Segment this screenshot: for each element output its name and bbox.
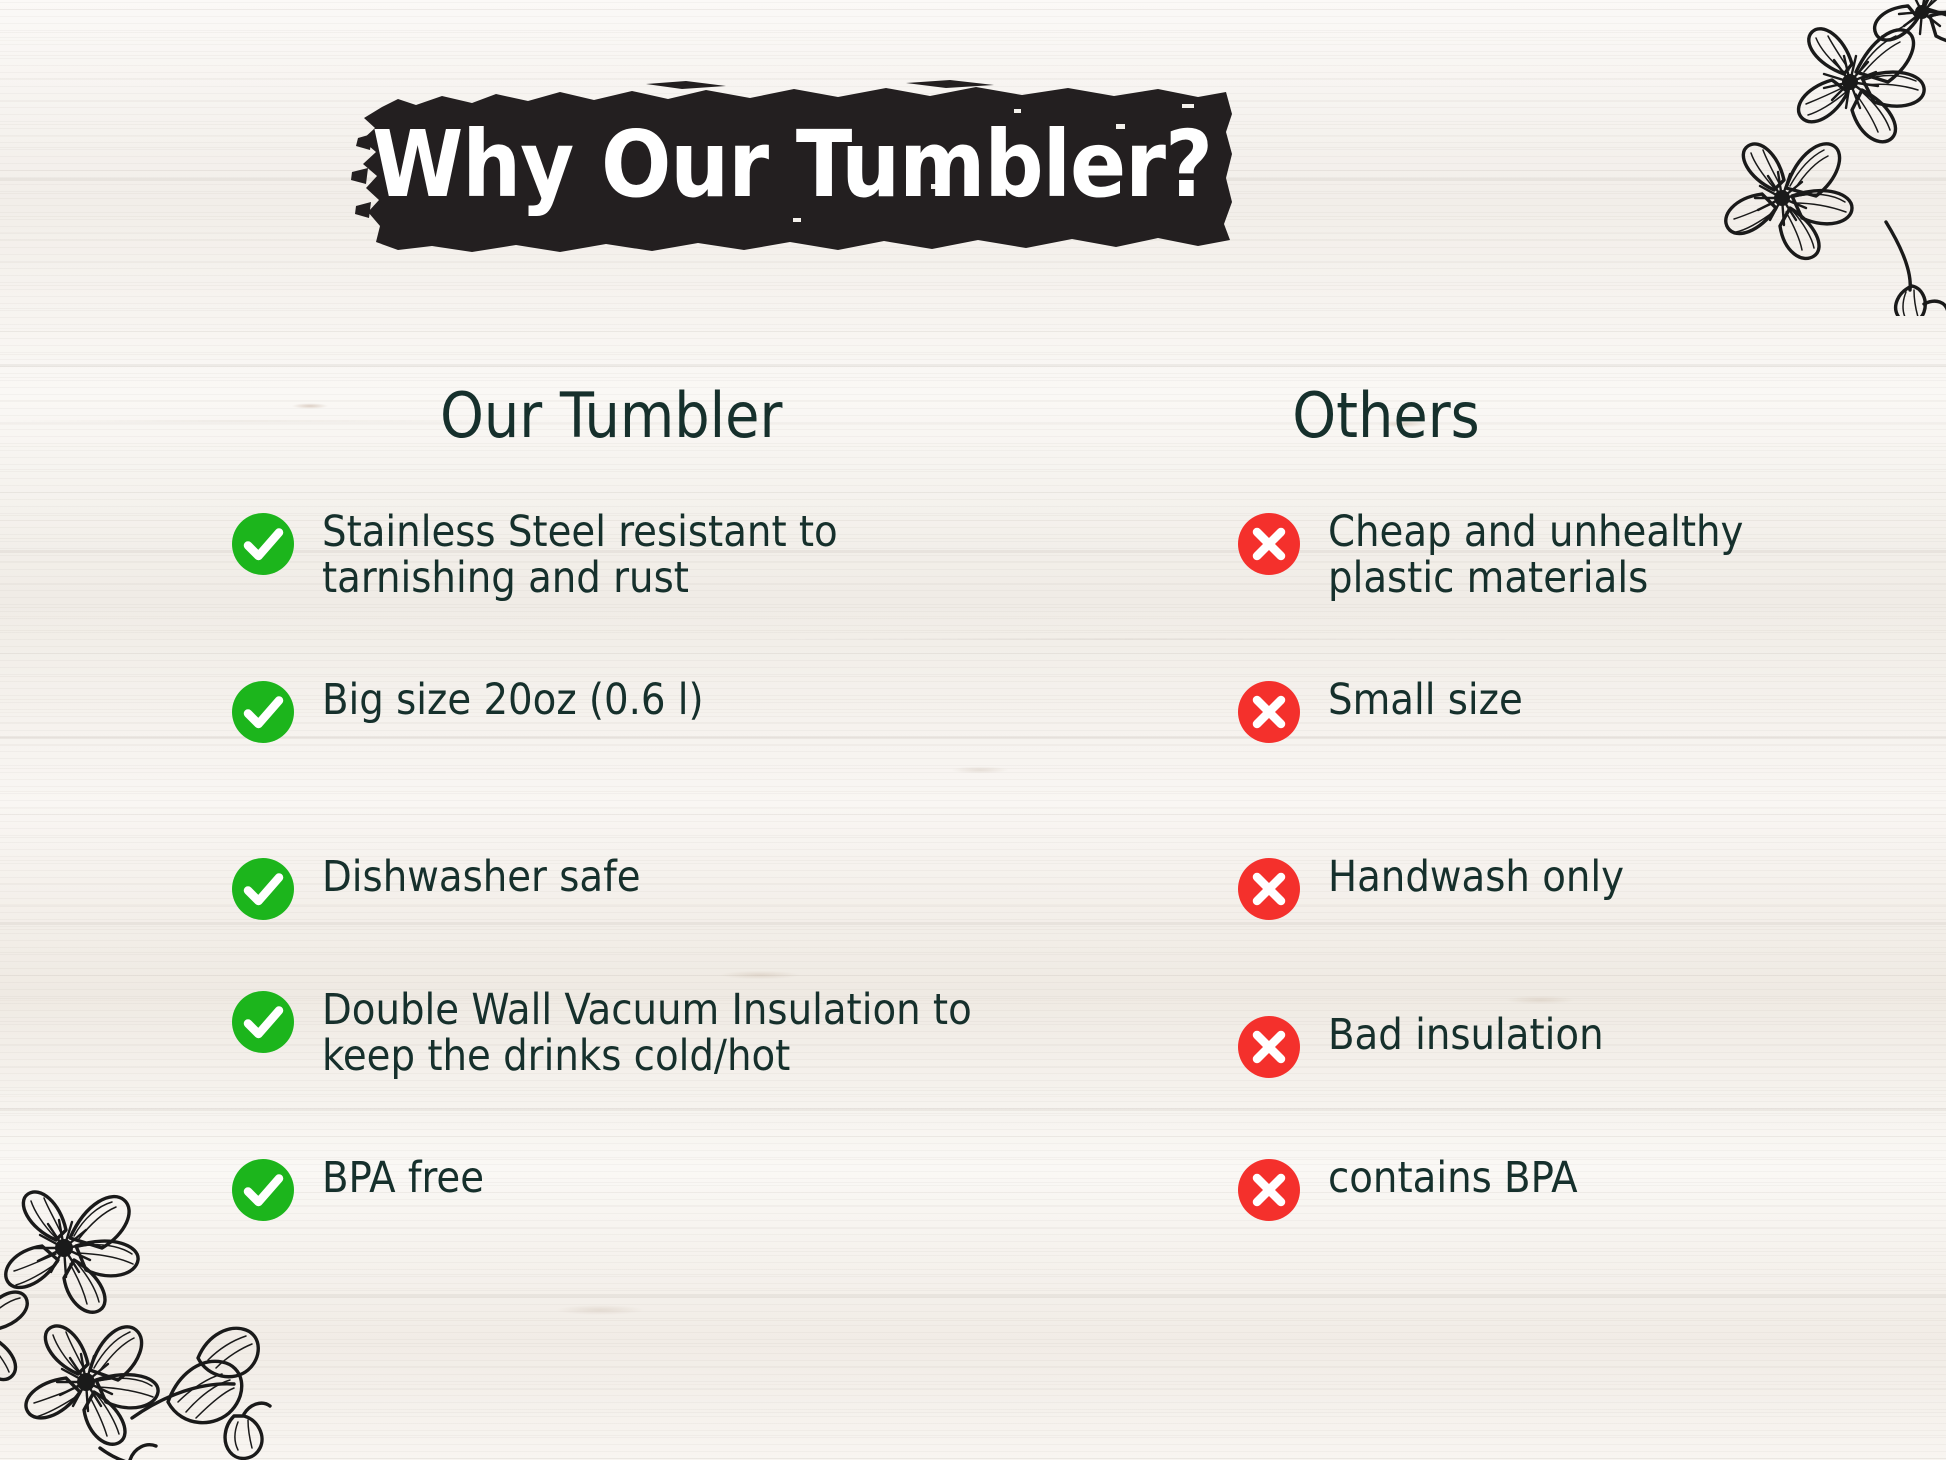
check-circle-icon — [232, 513, 294, 575]
list-item: Stainless Steel resistant to tarnishing … — [232, 510, 838, 601]
check-circle-icon — [232, 681, 294, 743]
cross-circle-icon — [1238, 1016, 1300, 1078]
list-item: Handwash only — [1238, 855, 1624, 920]
check-circle-icon — [232, 858, 294, 920]
column-header-ours: Our Tumbler — [440, 385, 782, 447]
cross-circle-icon — [1238, 681, 1300, 743]
list-item-text: Big size 20oz (0.6 l) — [322, 678, 704, 724]
list-item-text: Dishwasher safe — [322, 855, 641, 901]
check-circle-icon — [232, 991, 294, 1053]
list-item: BPA free — [232, 1156, 484, 1221]
list-item: contains BPA — [1238, 1156, 1578, 1221]
list-item-text: Stainless Steel resistant to tarnishing … — [322, 510, 838, 601]
column-header-others: Others — [1292, 385, 1479, 447]
cross-circle-icon — [1238, 1159, 1300, 1221]
list-item-text: Double Wall Vacuum Insulation to keep th… — [322, 988, 972, 1079]
cross-circle-icon — [1238, 513, 1300, 575]
list-item-text: BPA free — [322, 1156, 484, 1202]
list-item-text: Handwash only — [1328, 855, 1624, 901]
list-item: Big size 20oz (0.6 l) — [232, 678, 704, 743]
list-item-text: Small size — [1328, 678, 1523, 724]
title-banner: Why Our Tumbler? — [346, 80, 1238, 255]
poster-canvas: Why Our Tumbler? Our Tumbler Others Stai… — [0, 0, 1946, 1460]
page-title: Why Our Tumbler? — [346, 80, 1238, 255]
cross-circle-icon — [1238, 858, 1300, 920]
list-item-text: Cheap and unhealthy plastic materials — [1328, 510, 1743, 601]
check-circle-icon — [232, 1159, 294, 1221]
list-item: Small size — [1238, 678, 1523, 743]
list-item-text: contains BPA — [1328, 1156, 1578, 1202]
list-item: Double Wall Vacuum Insulation to keep th… — [232, 988, 972, 1079]
list-item-text: Bad insulation — [1328, 1013, 1604, 1059]
list-item: Bad insulation — [1238, 1013, 1604, 1078]
list-item: Cheap and unhealthy plastic materials — [1238, 510, 1743, 601]
list-item: Dishwasher safe — [232, 855, 641, 920]
